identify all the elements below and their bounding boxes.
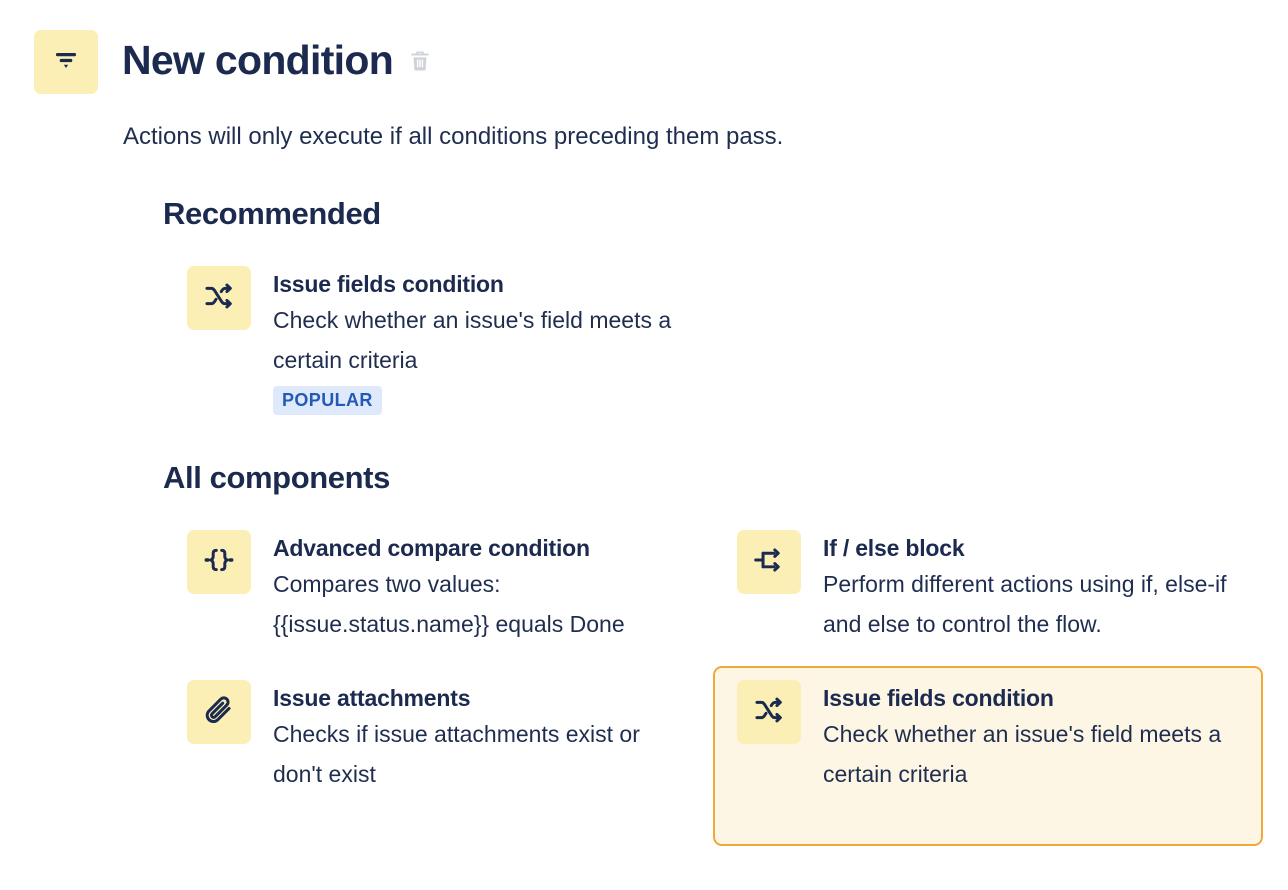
curly-braces-icon [202, 543, 236, 582]
grid-column-left: Issue attachments Checks if issue attach… [163, 666, 713, 846]
status-badge-popular: POPULAR [273, 386, 382, 415]
component-title: If / else block [823, 532, 1243, 564]
section-heading-recommended: Recommended [163, 192, 1263, 236]
component-icon-tile [187, 266, 251, 330]
component-grid-all-row-2: Issue attachments Checks if issue attach… [163, 666, 1263, 846]
component-text: Issue fields condition Check whether an … [273, 266, 683, 415]
component-icon-tile [737, 530, 801, 594]
page-title-row: New condition [122, 32, 433, 88]
component-item-issue-fields-condition[interactable]: Issue fields condition Check whether an … [163, 252, 713, 429]
paperclip-icon [202, 693, 236, 732]
section-recommended: Recommended Issue field [163, 192, 1263, 429]
grid-column-right: If / else block Perform different action… [713, 516, 1263, 658]
page-header: New condition [34, 30, 1254, 94]
shuffle-icon [202, 279, 236, 318]
section-heading-all-components: All components [163, 456, 1263, 500]
component-description: Perform different actions using if, else… [823, 564, 1243, 644]
component-title: Advanced compare condition [273, 532, 673, 564]
trash-icon[interactable] [407, 48, 433, 79]
page-subtitle: Actions will only execute if all conditi… [123, 119, 783, 155]
component-title: Issue fields condition [273, 268, 683, 300]
component-description: Compares two values: {{issue.status.name… [273, 564, 673, 644]
shuffle-icon [752, 693, 786, 732]
component-text: If / else block Perform different action… [823, 530, 1243, 644]
condition-type-badge [34, 30, 98, 94]
component-item-advanced-compare-condition[interactable]: Advanced compare condition Compares two … [163, 516, 713, 658]
component-grid-recommended: Issue fields condition Check whether an … [163, 252, 1263, 429]
component-grid-all-row-1: Advanced compare condition Compares two … [163, 516, 1263, 658]
component-text: Issue attachments Checks if issue attach… [273, 680, 663, 794]
component-item-issue-attachments[interactable]: Issue attachments Checks if issue attach… [163, 666, 713, 808]
component-icon-tile [737, 680, 801, 744]
grid-column-right: Issue fields condition Check whether an … [713, 666, 1263, 846]
branch-icon [752, 543, 786, 582]
filter-icon [51, 45, 81, 80]
component-item-issue-fields-condition-selected[interactable]: Issue fields condition Check whether an … [713, 666, 1263, 846]
grid-column-left: Advanced compare condition Compares two … [163, 516, 713, 658]
component-title: Issue attachments [273, 682, 663, 714]
section-all-components: All components Advanced compare condit [163, 456, 1263, 846]
component-text: Advanced compare condition Compares two … [273, 530, 673, 644]
grid-column-left: Issue fields condition Check whether an … [163, 252, 713, 429]
component-icon-tile [187, 530, 251, 594]
component-text: Issue fields condition Check whether an … [823, 680, 1233, 794]
component-description: Check whether an issue's field meets a c… [823, 714, 1233, 794]
component-item-if-else-block[interactable]: If / else block Perform different action… [713, 516, 1263, 658]
component-description: Check whether an issue's field meets a c… [273, 300, 683, 380]
component-description: Checks if issue attachments exist or don… [273, 714, 663, 794]
page-title: New condition [122, 32, 393, 88]
component-icon-tile [187, 680, 251, 744]
component-title: Issue fields condition [823, 682, 1233, 714]
